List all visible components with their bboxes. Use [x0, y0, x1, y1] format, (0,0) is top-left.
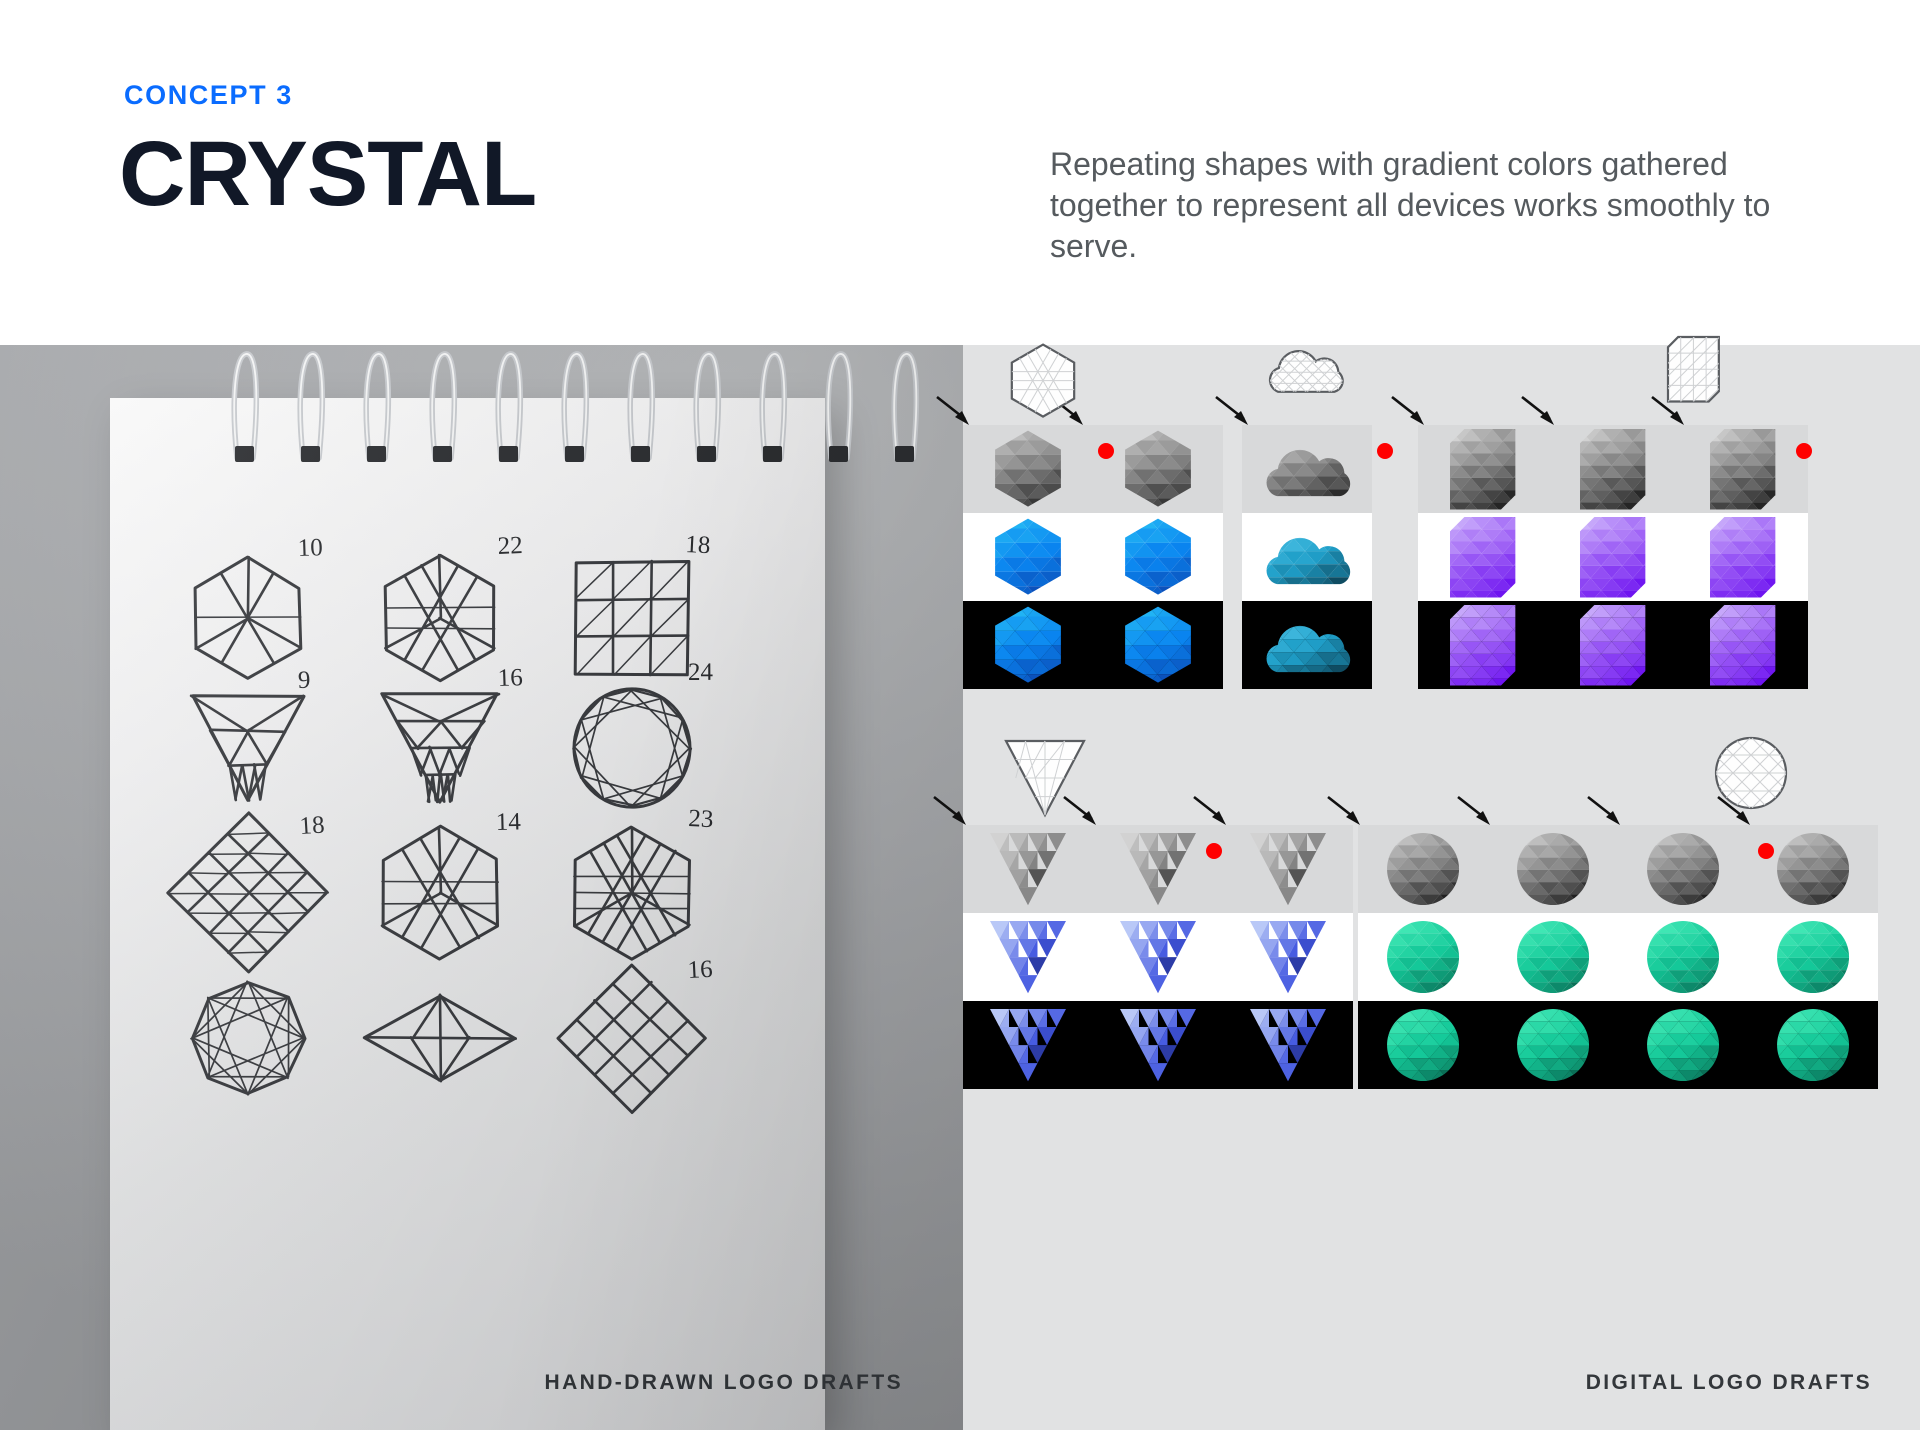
annotation-arrow-icon	[1326, 795, 1368, 829]
page-title: CRYSTAL	[119, 128, 536, 220]
annotation-arrow-icon	[1214, 395, 1256, 429]
logo-draft-sphere-black-3[interactable]	[1618, 1001, 1748, 1089]
wireframe-cloud-icon: ;;;;;;;;;;;;;;;;;;	[1265, 339, 1351, 394]
logo-draft-page-cube-grey-2[interactable]	[1548, 425, 1678, 513]
annotation-arrow-icon	[932, 795, 974, 829]
logo-draft-hexagon-grey-2[interactable]	[1093, 425, 1223, 513]
sketch-grid: 1022189162418142316	[110, 398, 825, 1430]
logo-draft-hexagon-grey-1[interactable]	[963, 425, 1093, 513]
logo-draft-sphere-white-3[interactable]	[1618, 913, 1748, 1001]
logo-draft-page-cube-white-3[interactable]	[1678, 513, 1808, 601]
wireframe-inverted-triangle-icon	[1006, 741, 1084, 815]
logo-draft-page-cube-black-2[interactable]	[1548, 601, 1678, 689]
logo-draft-inverted-triangle-black-1[interactable]	[963, 1001, 1093, 1089]
concept-description: Repeating shapes with gradient colors ga…	[1050, 144, 1850, 267]
annotation-arrow-icon	[935, 395, 977, 429]
annotation-arrow-icon	[1456, 795, 1498, 829]
selection-marker-dot[interactable]	[1796, 443, 1812, 459]
notebook-page: 1022189162418142316	[110, 398, 825, 1430]
svg-text:14: 14	[495, 808, 521, 836]
logo-draft-sphere-black-4[interactable]	[1748, 1001, 1878, 1089]
svg-text:10: 10	[297, 534, 323, 562]
content-body: 1022189162418142316 HAND-DRAWN LOGO DRAF…	[0, 345, 1920, 1430]
logo-draft-sphere-grey-2[interactable]	[1488, 825, 1618, 913]
logo-draft-sphere-grey-1[interactable]	[1358, 825, 1488, 913]
selection-marker-dot[interactable]	[1377, 443, 1393, 459]
annotation-arrow-icon	[1520, 395, 1562, 429]
logo-draft-inverted-triangle-grey-1[interactable]	[963, 825, 1093, 913]
logo-draft-hexagon-black-1[interactable]	[963, 601, 1093, 689]
svg-text:16: 16	[497, 664, 523, 692]
logo-draft-page-cube-white-2[interactable]	[1548, 513, 1678, 601]
logo-draft-hexagon-black-2[interactable]	[1093, 601, 1223, 689]
annotation-arrow-icon	[1586, 795, 1628, 829]
annotation-arrow-icon	[1390, 395, 1432, 429]
logo-draft-sphere-grey-4[interactable]	[1748, 825, 1878, 913]
logo-draft-hexagon-white-1[interactable]	[963, 513, 1093, 601]
header: CONCEPT 3 CRYSTAL Repeating shapes with …	[0, 0, 1920, 345]
logo-draft-page-cube-black-1[interactable]	[1418, 601, 1548, 689]
hand-drawn-photo-panel: 1022189162418142316 HAND-DRAWN LOGO DRAF…	[0, 345, 963, 1430]
annotation-arrow-icon	[1192, 795, 1234, 829]
svg-text:22: 22	[497, 532, 523, 560]
hand-drawn-caption: HAND-DRAWN LOGO DRAFTS	[545, 1371, 903, 1395]
logo-draft-sphere-grey-3[interactable]	[1618, 825, 1748, 913]
svg-text:16: 16	[687, 956, 713, 984]
concept-kicker: CONCEPT 3	[124, 80, 293, 111]
selection-marker-dot[interactable]	[1098, 443, 1114, 459]
logo-draft-inverted-triangle-black-2[interactable]	[1093, 1001, 1223, 1089]
svg-text:24: 24	[688, 659, 714, 686]
logo-draft-page-cube-grey-3[interactable]	[1678, 425, 1808, 513]
logo-draft-cloud-black-1[interactable]	[1242, 601, 1372, 689]
wireframe-hexagon-icon	[1007, 341, 1079, 420]
logo-draft-page-cube-black-3[interactable]	[1678, 601, 1808, 689]
selection-marker-dot[interactable]	[1206, 843, 1222, 859]
logo-draft-sphere-black-1[interactable]	[1358, 1001, 1488, 1089]
logo-draft-sphere-white-2[interactable]	[1488, 913, 1618, 1001]
svg-text:18: 18	[685, 531, 711, 559]
svg-text:9: 9	[298, 667, 311, 694]
logo-draft-cloud-grey-1[interactable]	[1242, 425, 1372, 513]
logo-draft-inverted-triangle-grey-3[interactable]	[1223, 825, 1353, 913]
digital-caption: DIGITAL LOGO DRAFTS	[1586, 1371, 1872, 1395]
logo-draft-page-cube-grey-1[interactable]	[1418, 425, 1548, 513]
selection-marker-dot[interactable]	[1758, 843, 1774, 859]
logo-draft-sphere-white-4[interactable]	[1748, 913, 1878, 1001]
svg-text:23: 23	[688, 805, 714, 833]
logo-draft-inverted-triangle-white-2[interactable]	[1093, 913, 1223, 1001]
logo-draft-hexagon-white-2[interactable]	[1093, 513, 1223, 601]
logo-draft-cloud-white-1[interactable]	[1242, 513, 1372, 601]
logo-draft-page-cube-white-1[interactable]	[1418, 513, 1548, 601]
logo-draft-sphere-white-1[interactable]	[1358, 913, 1488, 1001]
logo-draft-inverted-triangle-white-1[interactable]	[963, 913, 1093, 1001]
digital-drafts-panel: ;;;;;;;;;;;;;;;;;; ;;;	[963, 345, 1920, 1430]
wireframe-page-cube-icon: ;;;	[1668, 337, 1719, 401]
logo-draft-inverted-triangle-white-3[interactable]	[1223, 913, 1353, 1001]
svg-text:18: 18	[299, 812, 326, 840]
logo-draft-sphere-black-2[interactable]	[1488, 1001, 1618, 1089]
wireframe-sphere-icon: ;;;;;;;;;;;	[1715, 737, 1787, 809]
logo-draft-inverted-triangle-black-3[interactable]	[1223, 1001, 1353, 1089]
logo-draft-inverted-triangle-grey-2[interactable]	[1093, 825, 1223, 913]
